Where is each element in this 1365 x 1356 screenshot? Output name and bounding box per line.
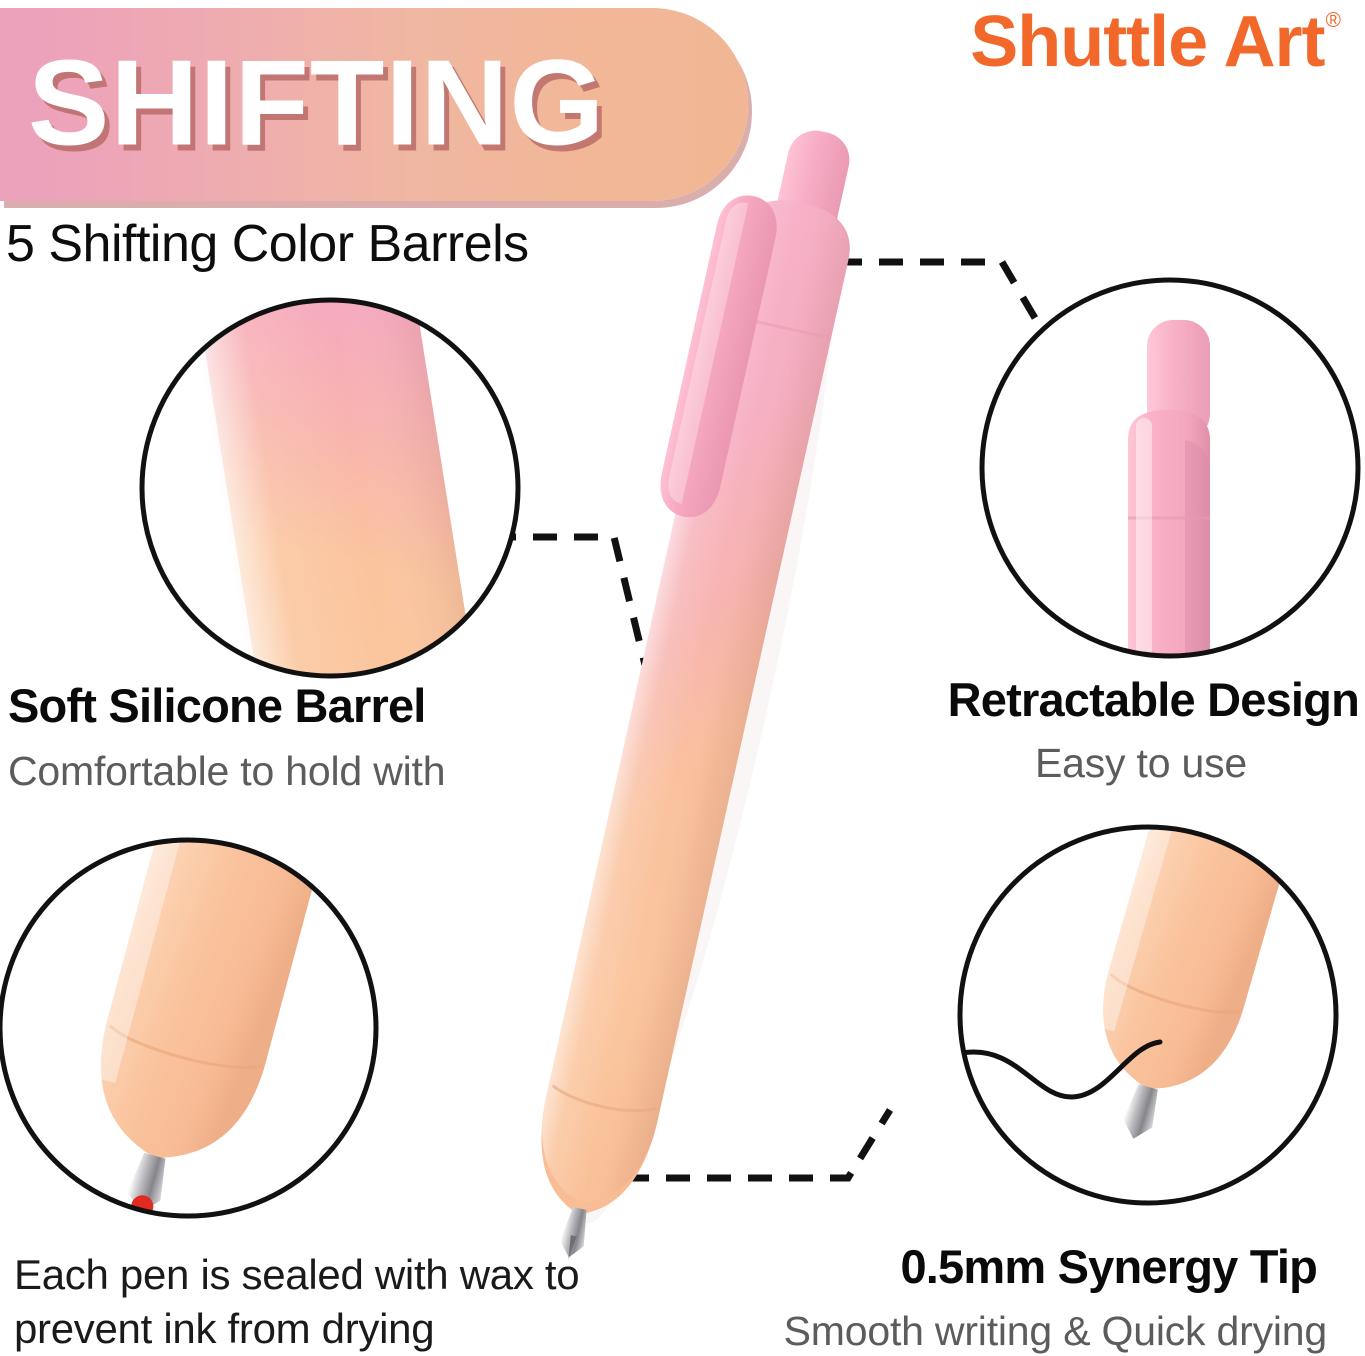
shifting-banner: SHIFTING	[0, 8, 748, 201]
page-subtitle: 5 Shifting Color Barrels	[6, 214, 529, 274]
registered-trademark-icon: ®	[1326, 9, 1340, 32]
logo-wordmark: Shuttle Art	[970, 2, 1324, 82]
shuttle-art-logo: Shuttle Art®	[970, 6, 1339, 78]
feature-title-synergy-tip: 0.5mm Synergy Tip	[900, 1243, 1317, 1290]
feature-title-soft-barrel: Soft Silicone Barrel	[8, 682, 426, 729]
feature-title-retractable: Retractable Design	[948, 676, 1359, 723]
connector-soft-barrel	[492, 537, 668, 760]
callout-circle-plunger-closeup	[982, 280, 1358, 700]
callout-circle-writing-tip-closeup	[960, 785, 1336, 1203]
banner-title: SHIFTING	[28, 41, 605, 163]
callout-circle-wax-tip-closeup	[0, 787, 376, 1238]
feature-subtitle-synergy-tip: Smooth writing & Quick drying	[784, 1308, 1327, 1355]
feature-subtitle-soft-barrel: Comfortable to hold with	[8, 748, 445, 795]
feature-text-wax-seal: Each pen is sealed with wax to prevent i…	[14, 1248, 614, 1356]
connector-retractable	[838, 262, 1042, 330]
feature-subtitle-retractable: Easy to use	[1035, 740, 1247, 787]
connector-synergy-tip	[584, 1110, 890, 1178]
main-pen	[491, 114, 892, 1276]
